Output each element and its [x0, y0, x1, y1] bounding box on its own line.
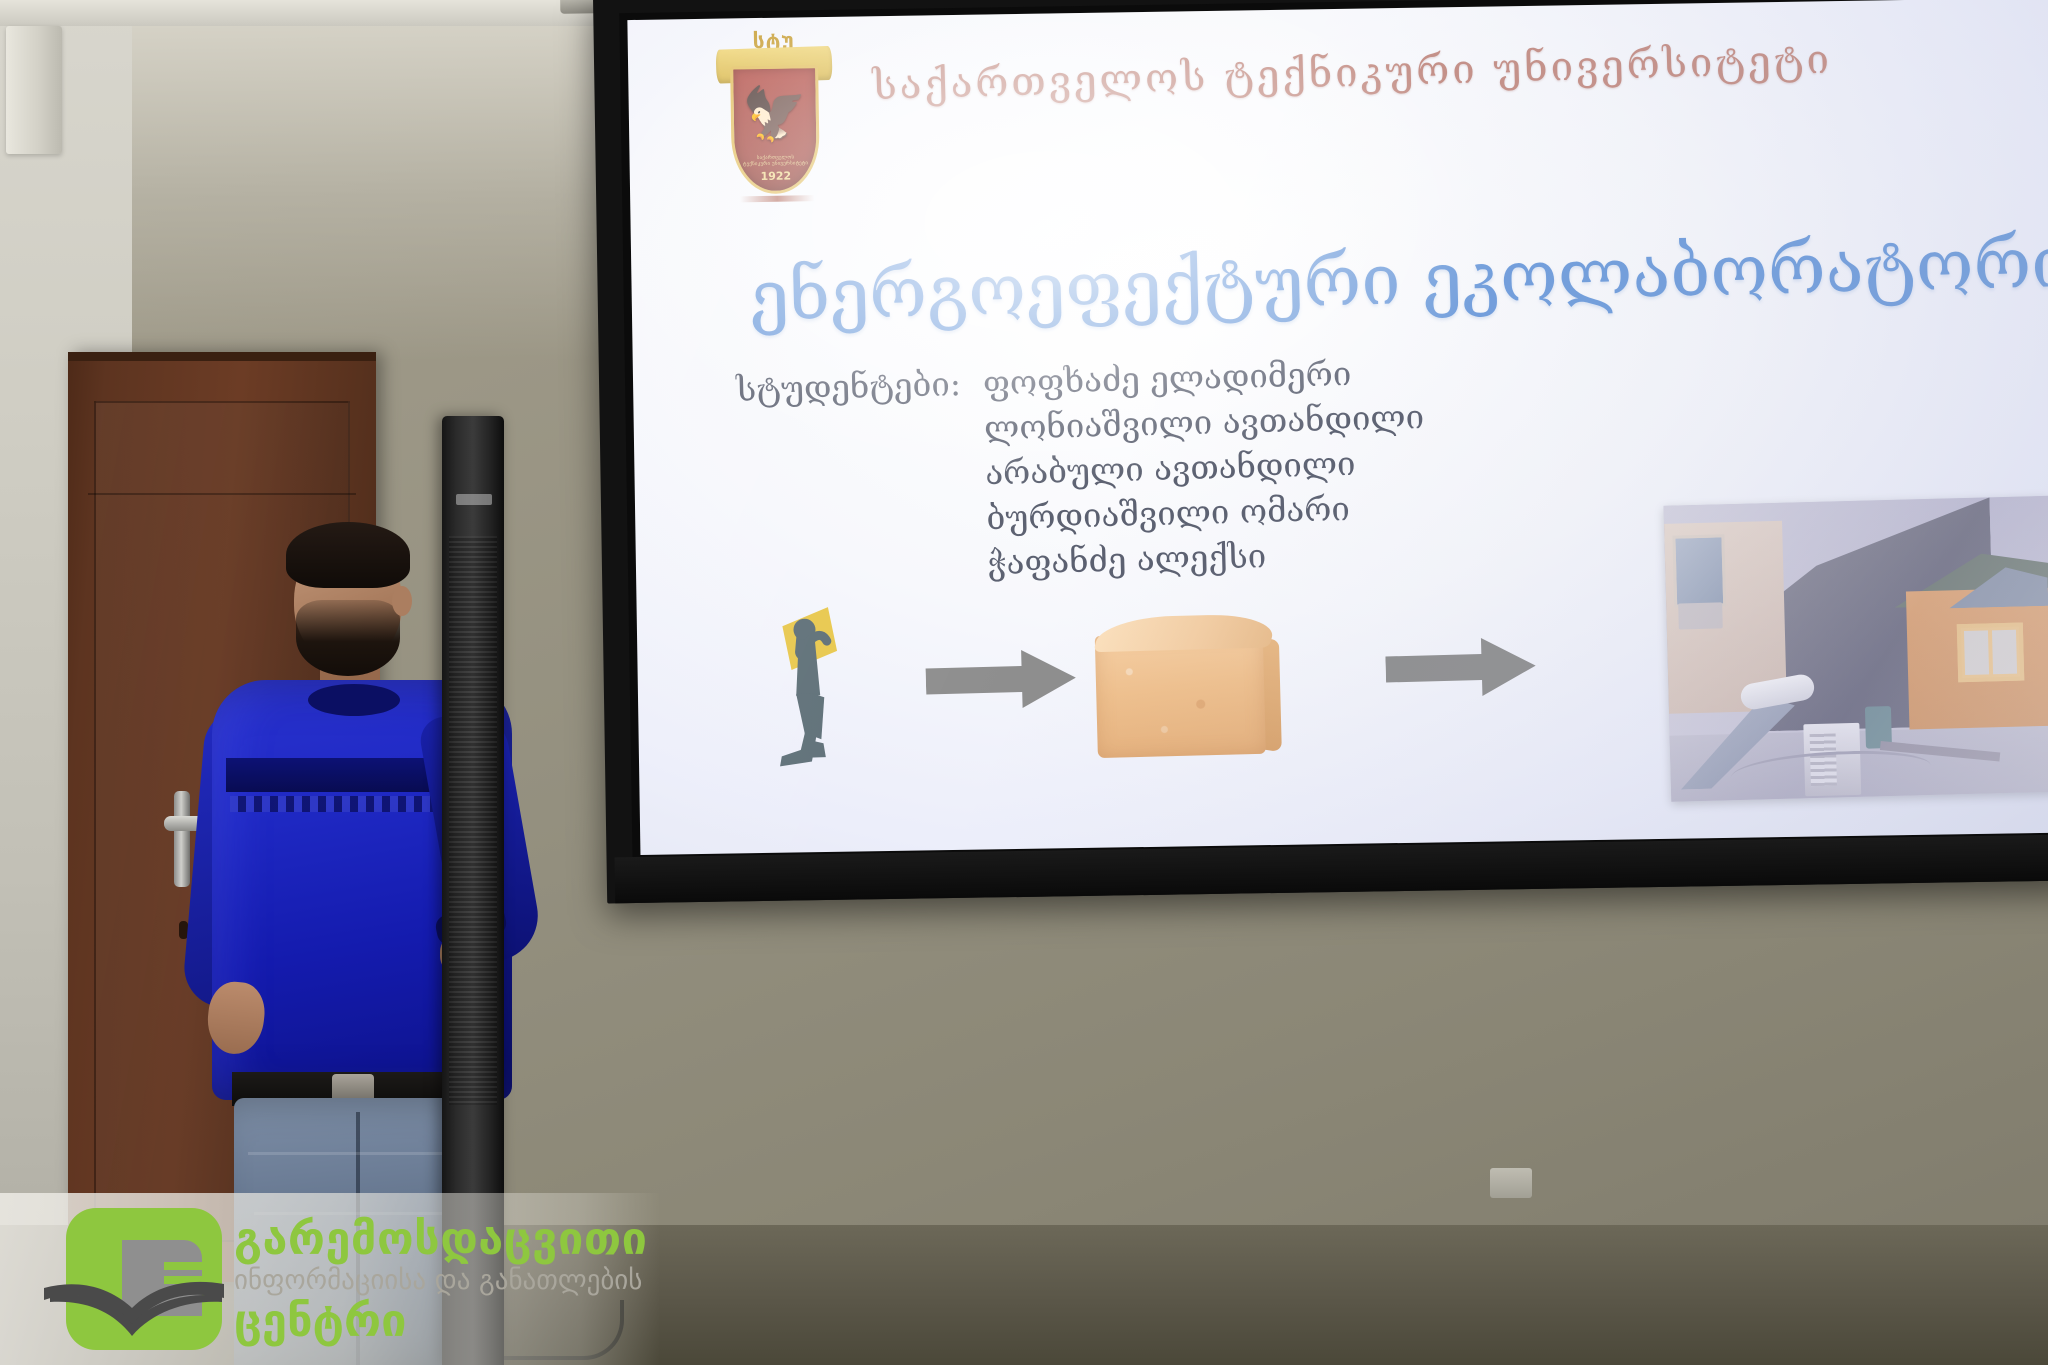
slide-surface: სტუ 🦅 საქართველოს ტექნიკური უნივერსიტეტი…: [627, 0, 2048, 855]
wall-outlet-plate: [1490, 1168, 1532, 1198]
jeans-fold: [248, 1152, 458, 1155]
right-arrow-icon: [925, 647, 1077, 713]
speaker-brand-badge: [456, 494, 492, 505]
door-handle[interactable]: [174, 791, 190, 887]
crest-year: 1922: [735, 169, 817, 183]
university-crest-icon: სტუ 🦅 საქართველოს ტექნიკური უნივერსიტეტი…: [713, 25, 836, 217]
watermark-line-3: ცენტრი: [234, 1298, 648, 1343]
ceiling-strip: [0, 0, 650, 26]
person-carrying-block-icon: [763, 588, 880, 771]
photo-ac-unit: [1678, 602, 1723, 629]
photo-cabin-window: [1957, 623, 2024, 683]
crest-shield: 🦅 საქართველოს ტექნიკური უნივერსიტეტი 192…: [730, 65, 820, 194]
crest-base-shadow: [740, 195, 814, 202]
watermark-line-2: ინფორმაციისა და განათლების: [234, 1267, 648, 1294]
slide-title: ენერგოეფექტური ეკოლაბორატორია: [749, 217, 2048, 339]
open-book-logo-icon: [44, 1204, 224, 1354]
door-seam: [88, 493, 356, 495]
university-header: საქართველოს ტექნიკური უნივერსიტეტი: [872, 31, 2045, 110]
person-collar: [308, 684, 400, 716]
insulation-block-icon: [1094, 607, 1294, 760]
watermark-line-1: გარემოსდაცვითი: [234, 1216, 648, 1261]
crest-motto: საქართველოს ტექნიკური უნივერსიტეტი: [743, 154, 809, 167]
speaker-grille: [449, 536, 497, 1105]
photo-scene: სტუ 🦅 საქართველოს ტექნიკური უნივერსიტეტი…: [0, 0, 2048, 1365]
eco-lab-photo: [1664, 496, 2048, 802]
watermark-text: გარემოსდაცვითი ინფორმაციისა და განათლები…: [234, 1216, 648, 1343]
person-beard: [296, 600, 400, 676]
person-ear: [392, 586, 412, 616]
ac-duct: [6, 26, 62, 154]
brick-top: [1093, 613, 1278, 652]
photo-window: [1672, 534, 1726, 607]
students-list: ფოფხაძე ელადიმერი ლონიაშვილი ავთანდილი ა…: [982, 349, 1428, 585]
crest-eagle-icon: 🦅: [742, 88, 808, 141]
students-label: სტუდენტები:: [736, 361, 967, 592]
watermark-logo: გარემოსდაცვითი ინფორმაციისა და განათლები…: [0, 1193, 660, 1365]
person-hair: [286, 522, 410, 588]
right-arrow-icon: [1385, 635, 1537, 701]
projection-screen: სტუ 🦅 საქართველოს ტექნიკური უნივერსიტეტი…: [593, 0, 2048, 903]
